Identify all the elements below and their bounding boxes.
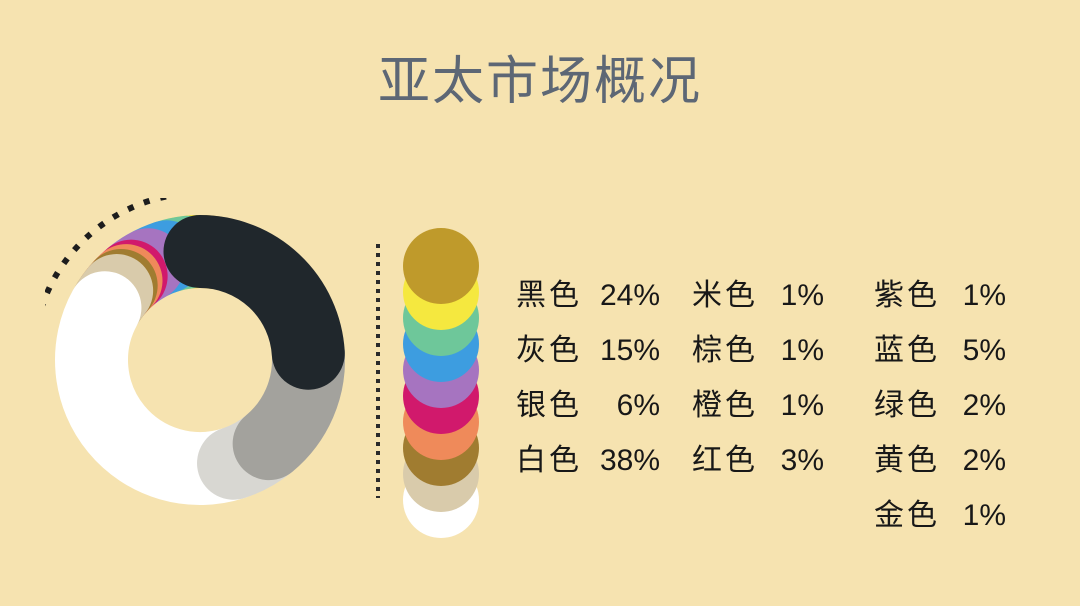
legend-item-value: 2%: [940, 388, 1006, 424]
legend-item-value: 6%: [582, 388, 660, 424]
legend-item-label: 白色: [516, 443, 582, 479]
legend-item[interactable]: 黑色24%: [516, 278, 692, 314]
page-title: 亚太市场概况: [0, 52, 1080, 112]
legend-item-label: 棕色: [692, 333, 758, 369]
legend-item-value: 38%: [582, 443, 660, 479]
legend-item-value: 1%: [940, 498, 1006, 534]
legend-item-value: 1%: [758, 333, 824, 369]
swatch-circles: [403, 228, 479, 538]
legend-item-value: 24%: [582, 278, 660, 314]
legend-item[interactable]: 红色3%: [692, 443, 874, 479]
legend-item[interactable]: 橙色1%: [692, 388, 874, 424]
legend-item[interactable]: 金色1%: [874, 498, 1056, 534]
legend-item-label: 金色: [874, 498, 940, 534]
donut-chart: [45, 198, 370, 523]
legend-item[interactable]: 银色6%: [516, 388, 692, 424]
swatch-circle: [403, 228, 479, 304]
color-swatch-stack: [398, 222, 484, 542]
legend-item-label: 红色: [692, 443, 758, 479]
legend-item-value: 2%: [940, 443, 1006, 479]
donut-chart-svg: [45, 198, 370, 523]
legend-item[interactable]: 白色38%: [516, 443, 692, 479]
legend-item[interactable]: 棕色1%: [692, 333, 874, 369]
donut-segments: [91, 251, 308, 468]
legend-item[interactable]: 灰色15%: [516, 333, 692, 369]
legend-item-label: 黑色: [516, 278, 582, 314]
color-swatch-stack-svg: [398, 222, 484, 542]
legend-item-label: 蓝色: [874, 333, 940, 369]
slide-canvas: 亚太市场概况 黑色24%米色1%紫色1%灰色15%棕色1%蓝色5%银色6%橙色1…: [0, 0, 1080, 606]
legend-item-label: 黄色: [874, 443, 940, 479]
legend-item-value: 3%: [758, 443, 824, 479]
legend-item-value: 1%: [940, 278, 1006, 314]
dotted-guide-svg: [374, 242, 382, 500]
legend-item-value: 5%: [940, 333, 1006, 369]
legend-item[interactable]: 绿色2%: [874, 388, 1056, 424]
legend-item-label: 灰色: [516, 333, 582, 369]
legend-item-label: 绿色: [874, 388, 940, 424]
legend-item-label: 紫色: [874, 278, 940, 314]
legend-item-value: 1%: [758, 388, 824, 424]
legend-item-label: 米色: [692, 278, 758, 314]
dotted-guide-line: [374, 242, 382, 500]
legend-item-label: 橙色: [692, 388, 758, 424]
legend-item[interactable]: 紫色1%: [874, 278, 1056, 314]
legend-item[interactable]: 米色1%: [692, 278, 874, 314]
legend-item-value: 15%: [582, 333, 660, 369]
legend-item-value: 1%: [758, 278, 824, 314]
donut-segment: [200, 252, 308, 354]
legend-item[interactable]: 蓝色5%: [874, 333, 1056, 369]
legend-item[interactable]: 黄色2%: [874, 443, 1056, 479]
legend-grid: 黑色24%米色1%紫色1%灰色15%棕色1%蓝色5%银色6%橙色1%绿色2%白色…: [516, 268, 1056, 543]
legend-item-label: 银色: [516, 388, 582, 424]
